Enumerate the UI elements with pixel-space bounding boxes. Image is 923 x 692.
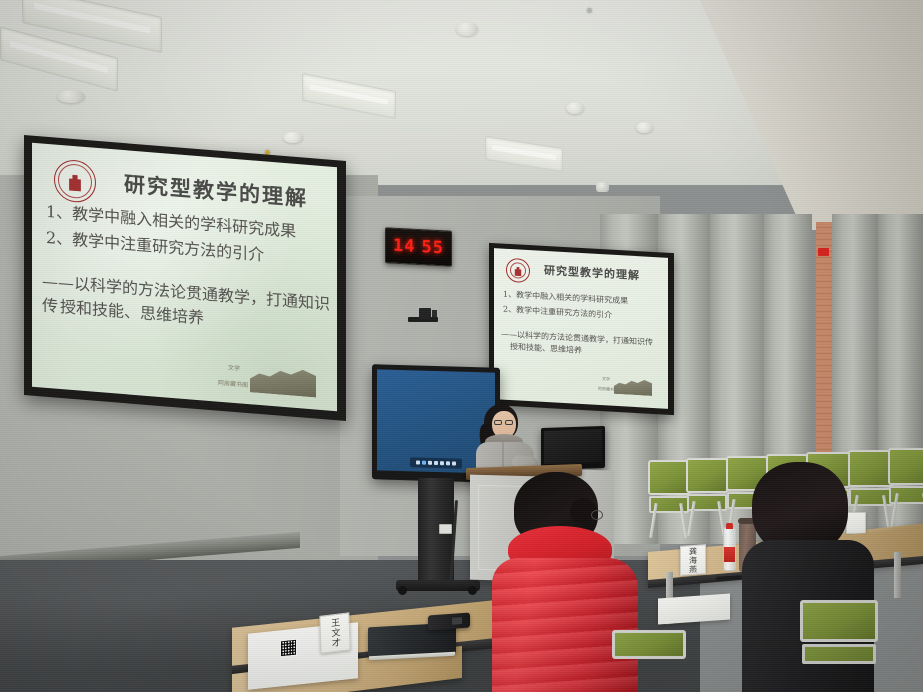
lecture-hall-photo: 研究型教学的理解 1、教学中融入相关的学科研究成果 2、教学中注重研究方法的引介… — [0, 0, 923, 692]
smartphone[interactable] — [428, 613, 470, 631]
taskbar-icon[interactable] — [422, 461, 426, 465]
ceiling-speaker-dome — [57, 90, 85, 103]
table-leg — [894, 552, 901, 598]
taskbar-icon[interactable] — [452, 461, 456, 465]
paper-sheet — [658, 593, 730, 624]
taskbar-icon[interactable] — [446, 461, 450, 465]
taskbar-icon[interactable] — [440, 461, 444, 465]
ceiling-camera-icon — [596, 182, 609, 192]
university-seal-icon — [54, 158, 96, 203]
chair[interactable] — [888, 448, 923, 528]
glasses-icon — [494, 420, 514, 425]
slide-footer-label-1-secondary: 文学 — [602, 376, 610, 382]
ceiling-speaker-dome — [566, 102, 584, 114]
name-card: 龚海燕 — [680, 544, 706, 576]
wall-sign-red — [818, 248, 829, 256]
slide-pagoda-graphic — [250, 356, 316, 397]
projector-wall-mount — [408, 308, 438, 327]
ifp-stand-base — [396, 580, 480, 591]
university-seal-icon — [506, 258, 530, 283]
ceiling-speaker-dome — [283, 132, 303, 143]
name-card-text: 王文才 — [328, 617, 342, 648]
chair[interactable] — [612, 630, 686, 692]
hair-tie-icon — [591, 510, 603, 520]
bottle-cap — [726, 523, 733, 529]
slide-footer-label-2-secondary: 阿房藏书阁 — [598, 386, 618, 393]
water-bottle — [723, 527, 736, 571]
slide-footer-label-2: 阿房藏书阁 — [218, 378, 248, 389]
qr-code-icon — [280, 639, 297, 658]
taskbar-icon[interactable] — [428, 461, 432, 465]
projected-slide: 研究型教学的理解 1、教学中融入相关的学科研究成果 2、教学中注重研究方法的引介… — [32, 143, 337, 412]
slide-footer-label-1: 文学 — [228, 362, 240, 372]
bottle-label — [724, 547, 735, 561]
brick-column — [816, 222, 832, 472]
caster-wheel-icon — [398, 586, 407, 595]
wall-outlet[interactable] — [439, 524, 452, 534]
name-card: 王文才 — [319, 612, 350, 654]
ceiling-speaker-dome — [456, 22, 478, 36]
chair[interactable] — [686, 458, 728, 534]
projection-screen-secondary: 研究型教学的理解 1、教学中融入相关的学科研究成果 2、教学中注重研究方法的引介… — [489, 243, 674, 415]
ifp-taskbar[interactable] — [410, 457, 462, 469]
slide-bullet-2-secondary: 2、教学中注重研究方法的引介 — [503, 304, 612, 321]
name-card-text: 龚海燕 — [688, 546, 699, 574]
ceiling-speaker-dome — [636, 122, 653, 133]
taskbar-icon[interactable] — [434, 461, 438, 465]
sprinkler-head-icon — [587, 8, 592, 13]
clock-minutes: 55 — [422, 237, 444, 258]
monitor-brand-label: ViewSonic — [563, 431, 583, 436]
chair[interactable] — [648, 460, 690, 536]
projected-slide-secondary: 研究型教学的理解 1、教学中融入相关的学科研究成果 2、教学中注重研究方法的引介… — [494, 248, 668, 409]
caster-wheel-icon — [468, 586, 477, 595]
taskbar-icon[interactable] — [416, 460, 420, 464]
projection-screen: 研究型教学的理解 1、教学中融入相关的学科研究成果 2、教学中注重研究方法的引介… — [24, 135, 346, 421]
clock-hours: 14 — [393, 236, 415, 257]
digital-wall-clock: 14 55 — [385, 227, 452, 267]
slide-title-secondary: 研究型教学的理解 — [544, 262, 640, 283]
chair[interactable] — [800, 600, 878, 692]
slide-pagoda-graphic-secondary — [614, 373, 652, 396]
